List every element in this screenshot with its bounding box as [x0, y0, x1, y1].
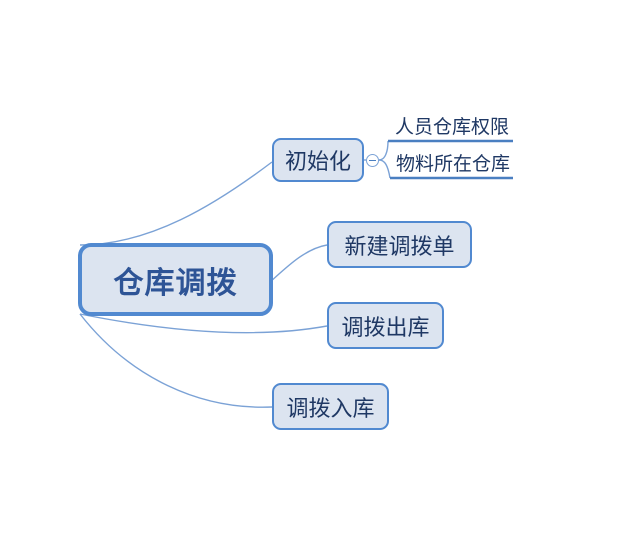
- connector-toggle-to-leaf2: [379, 160, 390, 178]
- connector-root-to-init: [80, 162, 272, 245]
- mindmap-node-new-transfer-order[interactable]: 新建调拨单: [327, 221, 472, 268]
- connector-toggle-to-leaf1: [379, 141, 388, 160]
- mindmap-leaf-personnel-warehouse-permission[interactable]: 人员仓库权限: [390, 112, 514, 142]
- node-label-transfer-inbound: 调拨入库: [286, 391, 374, 423]
- mindmap-node-transfer-inbound[interactable]: 调拨入库: [272, 383, 389, 430]
- leaf-label-material-warehouse-location: 物料所在仓库: [396, 149, 510, 176]
- node-label-new-transfer-order: 新建调拨单: [344, 229, 454, 261]
- mindmap-node-initialization[interactable]: 初始化: [272, 138, 364, 182]
- mindmap-leaf-material-warehouse-location[interactable]: 物料所在仓库: [392, 149, 514, 179]
- node-label-transfer-outbound: 调拨出库: [341, 310, 429, 342]
- mindmap-canvas: 仓库调拨 初始化 人员仓库权限 物料所在仓库 新建调拨单 调拨出库 调拨入库: [0, 0, 624, 541]
- mindmap-root-node[interactable]: 仓库调拨: [78, 243, 273, 316]
- leaf-label-personnel-warehouse-permission: 人员仓库权限: [395, 112, 509, 139]
- minus-circle-icon[interactable]: [366, 154, 379, 167]
- mindmap-node-transfer-outbound[interactable]: 调拨出库: [327, 302, 444, 349]
- root-node-label: 仓库调拨: [114, 258, 238, 302]
- node-label-initialization: 初始化: [285, 144, 351, 176]
- connector-root-to-out: [80, 314, 327, 333]
- connector-root-to-in: [80, 314, 272, 407]
